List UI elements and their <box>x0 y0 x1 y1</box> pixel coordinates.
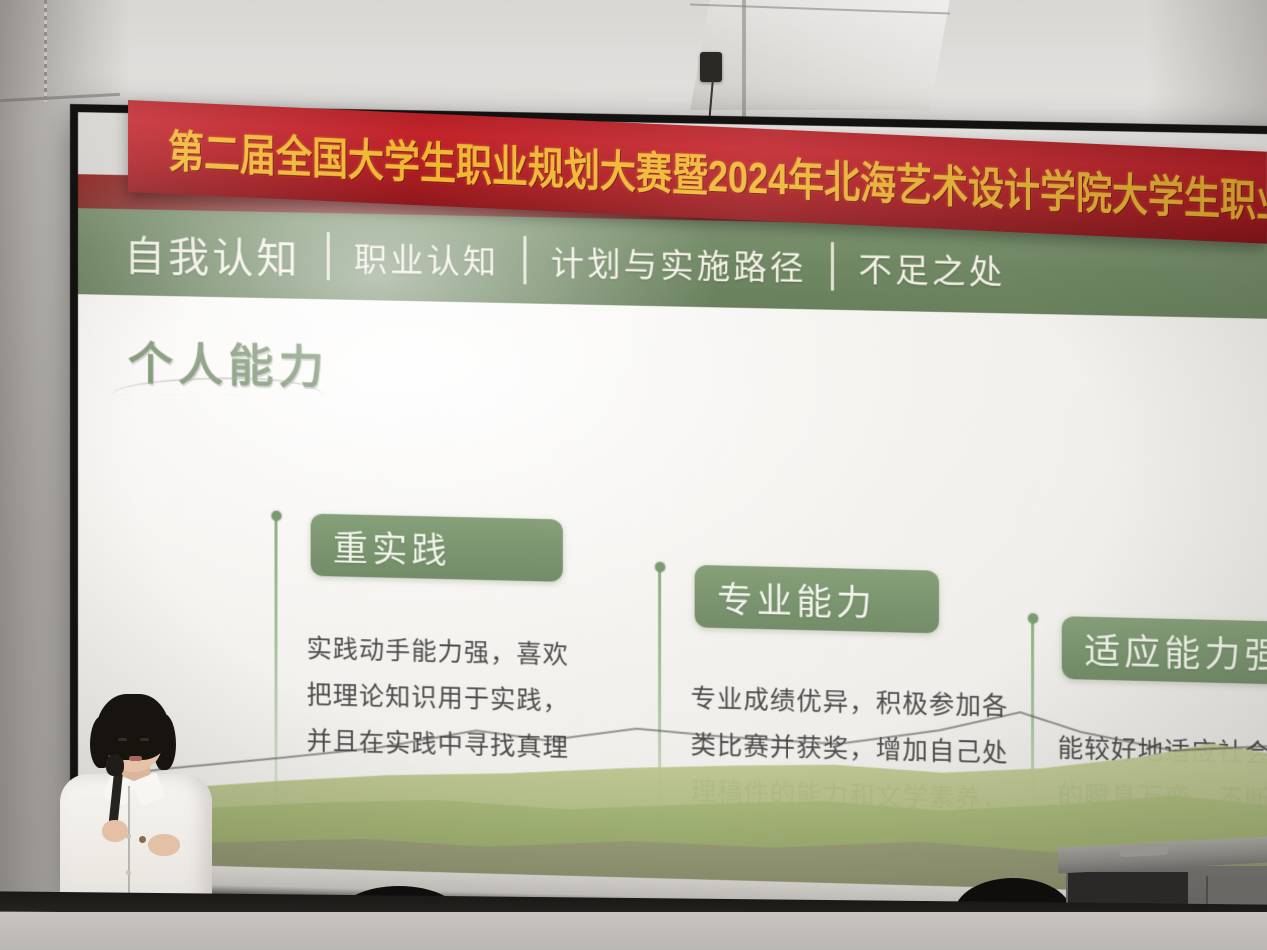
presenter-shirt-button <box>126 870 131 875</box>
hanging-chain <box>44 0 47 102</box>
presenter-mouth <box>129 756 142 761</box>
presenter-hair <box>96 694 170 760</box>
card-heading-label-2: 专业能力 <box>717 571 876 626</box>
presenter-eye-right <box>140 738 149 741</box>
lower-wall <box>0 912 1267 950</box>
microphone-icon <box>106 754 124 776</box>
card-dot-marker <box>655 562 665 572</box>
nav-item-career-awareness[interactable]: 职业认知 <box>330 232 524 284</box>
presenter-hand-left <box>102 820 128 842</box>
card-dot-marker <box>271 511 281 521</box>
nav-item-plan-and-path[interactable]: 计划与实施路径 <box>526 236 830 290</box>
wall-speaker-icon <box>700 52 722 82</box>
card-heading-badge-2: 专业能力 <box>695 565 939 633</box>
card-heading-badge-1: 重实践 <box>311 514 563 582</box>
nav-item-self-awareness[interactable]: 自我认知 <box>124 222 327 286</box>
ceiling-beam <box>690 0 949 110</box>
photo-scene: 自我认知 职业认知 计划与实施路径 不足之处 个人能力 <box>0 0 1267 950</box>
nav-item-shortcomings[interactable]: 不足之处 <box>834 242 1030 294</box>
presenter-lapel-pin <box>139 836 146 843</box>
presenter-hand-right <box>148 834 180 856</box>
podium-item <box>1120 843 1168 858</box>
card-heading-label-1: 重实践 <box>333 520 451 574</box>
presenter-eye-left <box>118 738 127 741</box>
card-dot-marker <box>1027 613 1037 623</box>
